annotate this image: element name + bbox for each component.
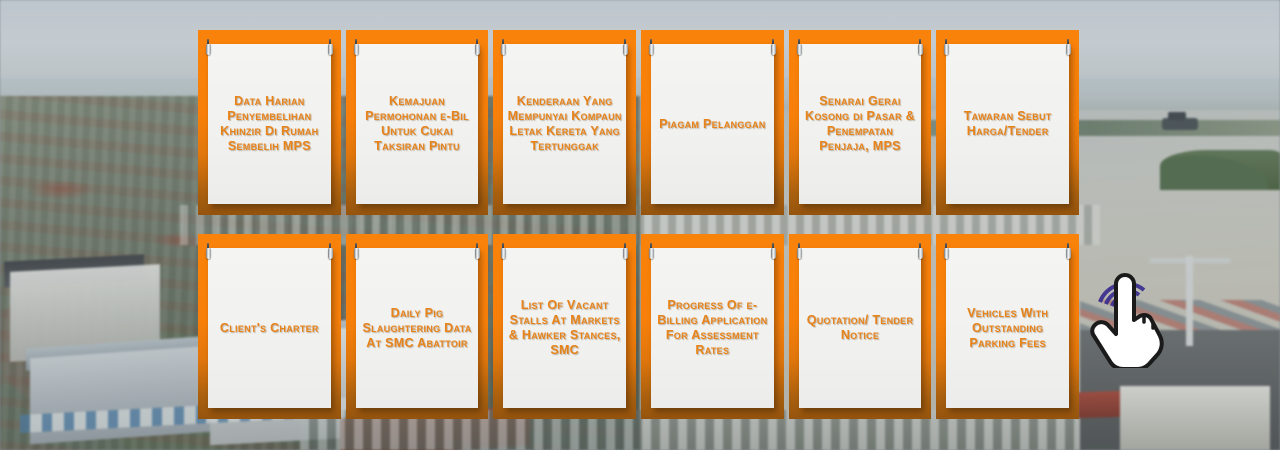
service-tile[interactable]: Daily Pig Slaughtering Data At SMC Abatt…	[346, 234, 489, 419]
service-card-title: Daily Pig Slaughtering Data At SMC Abatt…	[360, 306, 475, 351]
service-card-title: Senarai Gerai Kosong di Pasar & Penempat…	[803, 94, 918, 154]
pin-icon	[917, 243, 924, 261]
pin-icon	[327, 39, 334, 57]
pin-icon	[770, 39, 777, 57]
service-card-title: Kenderaan Yang Mempunyai Kompaun Letak K…	[507, 94, 622, 154]
service-card-title: Kemajuan Permohonan e-Bil Untuk Cukai Ta…	[360, 94, 475, 154]
service-card-title: Tawaran Sebut Harga/Tender	[950, 109, 1065, 139]
pin-icon	[205, 39, 212, 57]
pin-icon	[622, 39, 629, 57]
service-card-title: Quotation/ Tender Notice	[803, 313, 918, 343]
pin-icon	[500, 39, 507, 57]
service-tile[interactable]: Tawaran Sebut Harga/Tender	[936, 30, 1079, 215]
pin-icon	[353, 39, 360, 57]
service-card-title: Client's Charter	[220, 321, 319, 336]
service-card[interactable]: Progress Of e-Billing Application For As…	[651, 248, 774, 408]
service-card-title: Progress Of e-Billing Application For As…	[655, 298, 770, 358]
pin-icon	[474, 39, 481, 57]
service-tile[interactable]: List Of Vacant Stalls At Markets & Hawke…	[493, 234, 636, 419]
service-card[interactable]: Data Harian Penyembelihan Khinzir Di Rum…	[208, 44, 331, 204]
pin-icon	[796, 39, 803, 57]
pin-icon	[648, 39, 655, 57]
service-card[interactable]: Senarai Gerai Kosong di Pasar & Penempat…	[799, 44, 922, 204]
pin-icon	[648, 243, 655, 261]
service-card[interactable]: Client's Charter	[208, 248, 331, 408]
service-card[interactable]: Daily Pig Slaughtering Data At SMC Abatt…	[356, 248, 479, 408]
service-card[interactable]: Tawaran Sebut Harga/Tender	[946, 44, 1069, 204]
service-card[interactable]: Kenderaan Yang Mempunyai Kompaun Letak K…	[503, 44, 626, 204]
pin-icon	[327, 243, 334, 261]
service-card[interactable]: Kemajuan Permohonan e-Bil Untuk Cukai Ta…	[356, 44, 479, 204]
service-tile[interactable]: Progress Of e-Billing Application For As…	[641, 234, 784, 419]
pin-icon	[622, 243, 629, 261]
service-card[interactable]: Vehicles With Outstanding Parking Fees	[946, 248, 1069, 408]
service-card-title: Vehicles With Outstanding Parking Fees	[950, 306, 1065, 351]
pin-icon	[1065, 243, 1072, 261]
service-card[interactable]: Piagam Pelanggan	[651, 44, 774, 204]
service-tile-grid: Data Harian Penyembelihan Khinzir Di Rum…	[198, 30, 1079, 419]
service-tile[interactable]: Kenderaan Yang Mempunyai Kompaun Letak K…	[493, 30, 636, 215]
pin-icon	[1065, 39, 1072, 57]
service-card-title: List Of Vacant Stalls At Markets & Hawke…	[507, 298, 622, 358]
pin-icon	[353, 243, 360, 261]
service-tile[interactable]: Client's Charter	[198, 234, 341, 419]
service-tile[interactable]: Senarai Gerai Kosong di Pasar & Penempat…	[789, 30, 932, 215]
service-tile[interactable]: Kemajuan Permohonan e-Bil Untuk Cukai Ta…	[346, 30, 489, 215]
service-card-title: Data Harian Penyembelihan Khinzir Di Rum…	[212, 94, 327, 154]
service-tile[interactable]: Data Harian Penyembelihan Khinzir Di Rum…	[198, 30, 341, 215]
pin-icon	[500, 243, 507, 261]
service-card-title: Piagam Pelanggan	[659, 117, 765, 132]
pin-icon	[943, 243, 950, 261]
pin-icon	[770, 243, 777, 261]
pin-icon	[205, 243, 212, 261]
service-tile[interactable]: Piagam Pelanggan	[641, 30, 784, 215]
pin-icon	[917, 39, 924, 57]
pin-icon	[474, 243, 481, 261]
pin-icon	[943, 39, 950, 57]
pin-icon	[796, 243, 803, 261]
service-tile[interactable]: Quotation/ Tender Notice	[789, 234, 932, 419]
service-card[interactable]: Quotation/ Tender Notice	[799, 248, 922, 408]
service-tile[interactable]: Vehicles With Outstanding Parking Fees	[936, 234, 1079, 419]
service-card[interactable]: List Of Vacant Stalls At Markets & Hawke…	[503, 248, 626, 408]
